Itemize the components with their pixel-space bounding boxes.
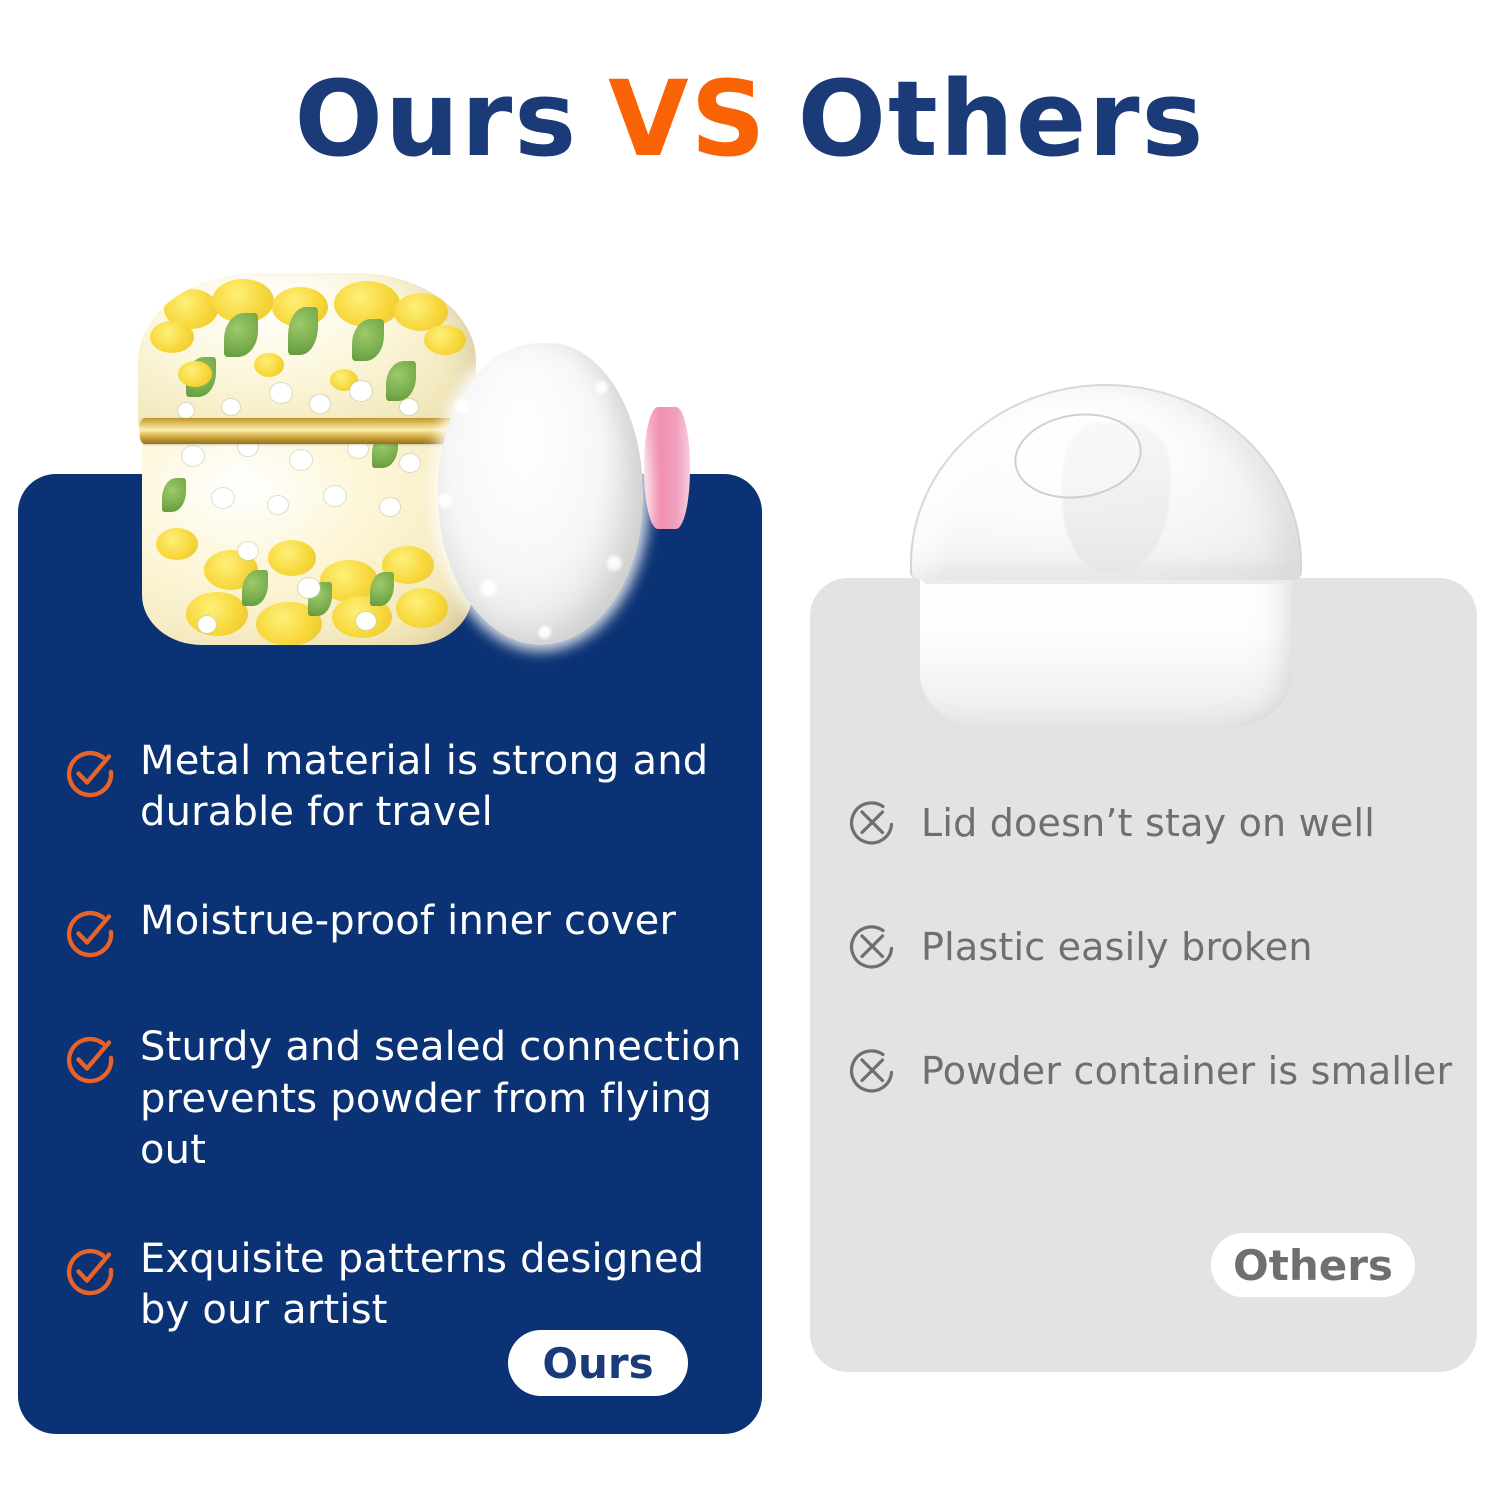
x-circle-icon [845, 1043, 899, 1101]
title-vs-word: VS [608, 58, 767, 180]
list-item-label: Powder container is smaller [921, 1048, 1452, 1096]
ours-feature-list: Metal material is strong and durable for… [62, 736, 752, 1336]
list-item: Powder container is smaller [845, 1043, 1465, 1101]
list-item-label: Sturdy and sealed connection prevents po… [140, 1022, 752, 1176]
page-title: OursVSOthers [0, 62, 1500, 176]
list-item-label: Moistrue-proof inner cover [140, 896, 676, 947]
list-item: Moistrue-proof inner cover [62, 896, 752, 964]
check-circle-icon [62, 904, 118, 964]
others-badge: Others [1211, 1233, 1415, 1297]
list-item: Exquisite patterns designed by our artis… [62, 1234, 752, 1336]
tin-body [142, 420, 472, 645]
tin-gold-band [140, 418, 474, 444]
list-item-label: Plastic easily broken [921, 924, 1313, 972]
x-circle-icon [845, 919, 899, 977]
list-item: Lid doesn’t stay on well [845, 795, 1465, 853]
list-item: Plastic easily broken [845, 919, 1465, 977]
ours-product-image [120, 255, 700, 685]
check-circle-icon [62, 1030, 118, 1090]
others-product-image [898, 380, 1318, 750]
list-item-label: Lid doesn’t stay on well [921, 800, 1375, 848]
clear-dome-lid [910, 384, 1302, 580]
check-circle-icon [62, 1242, 118, 1302]
tin-lid [138, 273, 476, 431]
others-drawback-list: Lid doesn’t stay on well Plastic easily … [845, 795, 1465, 1101]
powder-puff [438, 343, 643, 645]
x-circle-icon [845, 795, 899, 853]
check-circle-icon [62, 744, 118, 804]
plastic-container-base [920, 568, 1292, 730]
list-item-label: Exquisite patterns designed by our artis… [140, 1234, 752, 1336]
title-ours-word: Ours [295, 58, 579, 180]
title-others-word: Others [798, 58, 1206, 180]
list-item: Metal material is strong and durable for… [62, 736, 752, 838]
comparison-infographic: OursVSOthers [0, 0, 1500, 1500]
ours-badge: Ours [508, 1330, 688, 1396]
list-item-label: Metal material is strong and durable for… [140, 736, 752, 838]
list-item: Sturdy and sealed connection prevents po… [62, 1022, 752, 1176]
